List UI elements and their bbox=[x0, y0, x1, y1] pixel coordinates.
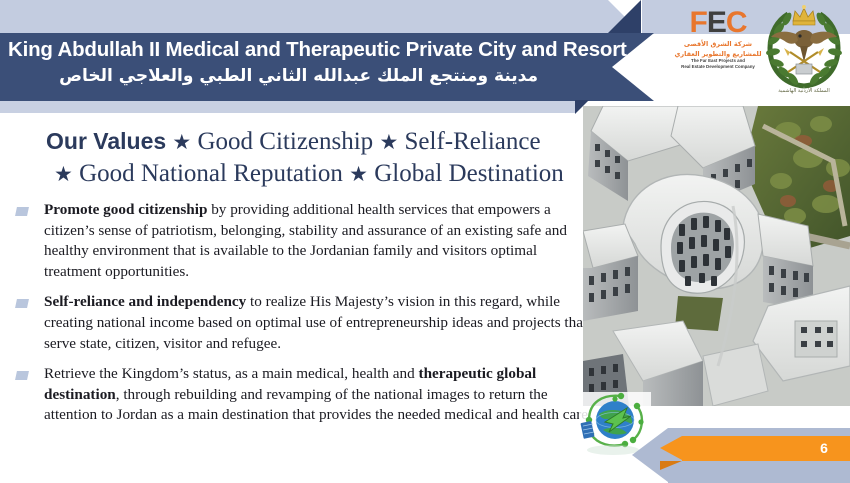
aerial-rendering-svg bbox=[583, 106, 850, 406]
bullet-1-bold: Promote good citizenship bbox=[44, 201, 207, 218]
fec-arabic-line-1: شركة الشرق الأقصى bbox=[672, 40, 764, 48]
bullet-2-bold: Self-reliance and independency bbox=[44, 293, 246, 310]
fec-letter-c: C bbox=[726, 6, 747, 39]
bullet-text-3: Retrieve the Kingdom’s status, as a main… bbox=[44, 364, 594, 426]
value-item-2: Self-Reliance bbox=[405, 128, 541, 155]
fec-english-line-2: Real Estate Development Company bbox=[672, 64, 764, 70]
slide-title-english: King Abdullah II Medical and Therapeutic… bbox=[8, 38, 608, 62]
footer-accent-band-tip bbox=[660, 436, 682, 460]
footer-accent-band-fold bbox=[660, 461, 682, 470]
aerial-rendering-image bbox=[583, 106, 850, 406]
fec-letter-e: E bbox=[707, 6, 726, 39]
bullet-text-2: Self-reliance and independency to realiz… bbox=[44, 292, 594, 354]
fec-logo: FEC شركة الشرق الأقصى للمشاريع والتطوير … bbox=[672, 8, 764, 86]
bullet-marker-icon bbox=[15, 207, 29, 216]
page-number: 6 bbox=[812, 440, 836, 456]
coat-of-arms-caption: المملكة الأردنية الهاشمية bbox=[762, 88, 846, 94]
slide-title-arabic: مدينة ومنتجع الملك عبدالله الثاني الطبي … bbox=[8, 66, 538, 86]
header-dark-wedge-icon bbox=[608, 0, 641, 33]
bullet-marker-icon bbox=[15, 299, 29, 308]
bullet-marker-icon bbox=[15, 371, 29, 380]
star-icon-2: ★ bbox=[379, 130, 398, 154]
header-under-strip bbox=[0, 101, 575, 113]
our-values-heading: Our Values ★ Good Citizenship ★ Self-Rel… bbox=[46, 126, 586, 190]
list-item: Self-reliance and independency to realiz… bbox=[16, 292, 594, 354]
our-values-line-2: ★ Good National Reputation ★ Global Dest… bbox=[46, 158, 586, 190]
photo-corner-wedge-icon bbox=[575, 100, 589, 114]
bullet-list: Promote good citizenship by providing ad… bbox=[16, 200, 594, 436]
slide: King Abdullah II Medical and Therapeutic… bbox=[0, 0, 850, 483]
bullet-text-1: Promote good citizenship by providing ad… bbox=[44, 200, 594, 282]
value-item-4: Global Destination bbox=[374, 160, 564, 187]
value-item-1: Good Citizenship bbox=[198, 128, 374, 155]
fec-wordmark: FEC bbox=[672, 8, 764, 38]
list-item: Promote good citizenship by providing ad… bbox=[16, 200, 594, 282]
bullet-3-pre: Retrieve the Kingdom’s status, as a main… bbox=[44, 365, 419, 382]
star-icon-1: ★ bbox=[172, 130, 191, 154]
bullet-3-rest: , through rebuilding and revamping of th… bbox=[44, 386, 588, 424]
value-item-3: Good National Reputation bbox=[79, 160, 343, 187]
list-item: Retrieve the Kingdom’s status, as a main… bbox=[16, 364, 594, 426]
eagle-icon bbox=[771, 30, 837, 62]
star-icon-4: ★ bbox=[349, 162, 368, 186]
our-values-lead: Our Values bbox=[46, 128, 166, 154]
coat-of-arms-svg bbox=[762, 4, 846, 96]
fec-letter-f: F bbox=[689, 6, 706, 39]
crown-icon bbox=[793, 5, 815, 25]
jordan-coat-of-arms-icon: المملكة الأردنية الهاشمية bbox=[762, 4, 846, 96]
star-icon-3: ★ bbox=[54, 162, 73, 186]
fec-arabic-line-2: للمشاريع والتطوير العقاري bbox=[672, 50, 764, 58]
